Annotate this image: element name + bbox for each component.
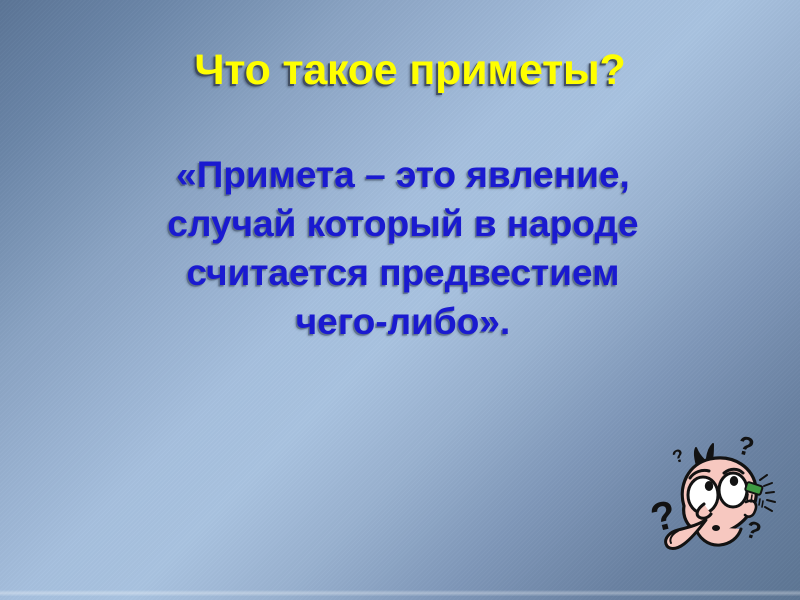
body-line-1: «Примета – это явление, <box>78 150 728 199</box>
body-line-2: случай который в народе <box>78 199 728 248</box>
question-mark-left: ? <box>650 492 681 541</box>
question-mark-top-right: ? <box>735 430 758 463</box>
slide-canvas: Что такое приметы? «Примета – это явлени… <box>0 0 800 600</box>
question-mark-top-left: ? <box>670 445 687 468</box>
slide-title: Что такое приметы? <box>60 48 760 93</box>
thinking-man-cartoon-icon: ? ? ? ? <box>650 428 796 570</box>
body-line-3: считается предвестием <box>78 248 728 297</box>
body-line-4: чего-либо». <box>78 297 728 346</box>
slide-body-text: «Примета – это явление, случай который в… <box>78 150 728 346</box>
